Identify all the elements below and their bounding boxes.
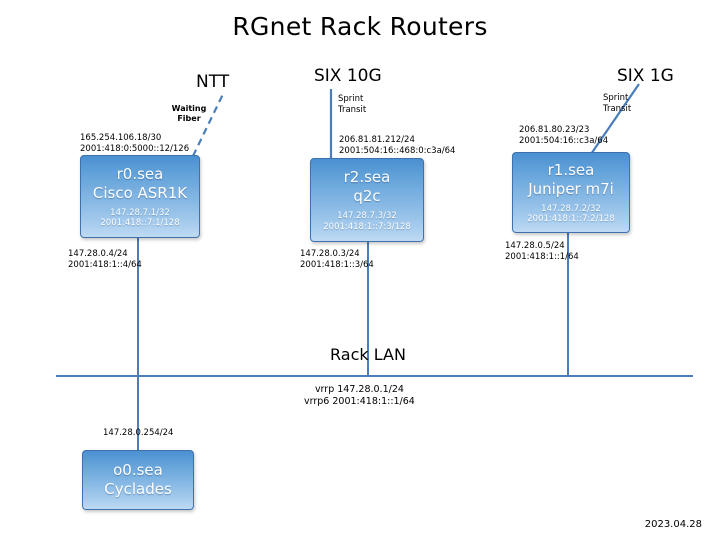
address-r1-lan: 147.28.0.5/24 2001:418:1::1/64: [505, 241, 579, 262]
note-waiting-fiber: Waiting Fiber: [160, 104, 218, 123]
link-r0-ntt: [193, 92, 224, 156]
node-r2-name: r2.sea: [344, 168, 391, 187]
note-sprint-transit-six10g: Sprint Transit: [338, 94, 366, 115]
address-o0-lan: 147.28.0.254/24: [103, 428, 173, 439]
note-sprint-transit-six1g: Sprint Transit: [603, 93, 631, 114]
rack-lan-title: Rack LAN: [330, 345, 406, 364]
rack-lan-bus: [56, 375, 693, 377]
node-r0-model: Cisco ASR1K: [93, 184, 187, 203]
node-r2[interactable]: r2.sea q2c 147.28.7.3/32 2001:418:1::7:3…: [310, 158, 424, 242]
provider-label-six10g: SIX 10G: [314, 66, 382, 86]
link-o0-lan: [137, 375, 139, 450]
node-r1-addresses: 147.28.7.2/32 2001:418:1::7:2/128: [527, 204, 615, 225]
node-o0[interactable]: o0.sea Cyclades: [82, 450, 194, 510]
address-r2-lan: 147.28.0.3/24 2001:418:1::3/64: [300, 249, 374, 270]
node-r1-model: Juniper m7i: [528, 180, 614, 199]
page-title: RGnet Rack Routers: [0, 12, 720, 41]
datestamp: 2023.04.28: [645, 519, 702, 530]
address-r0-uplink: 165.254.106.18/30 2001:418:0:5000::12/12…: [80, 133, 189, 154]
node-r2-addresses: 147.28.7.3/32 2001:418:1::7:3/128: [323, 211, 411, 232]
node-o0-model: Cyclades: [104, 480, 172, 499]
node-r1-name: r1.sea: [548, 161, 595, 180]
node-r2-model: q2c: [353, 187, 380, 206]
address-r0-lan: 147.28.0.4/24 2001:418:1::4/64: [68, 249, 142, 270]
provider-label-six1g: SIX 1G: [617, 66, 674, 86]
diagram-canvas: RGnet Rack Routers NTT SIX 10G SIX 1G Wa…: [0, 0, 720, 540]
address-r2-uplink: 206.81.81.212/24 2001:504:16::468:0:c3a/…: [339, 135, 455, 156]
node-r0-addresses: 147.28.7.1/32 2001:418::7:1/128: [100, 208, 179, 229]
node-r1[interactable]: r1.sea Juniper m7i 147.28.7.2/32 2001:41…: [512, 152, 630, 233]
node-r0[interactable]: r0.sea Cisco ASR1K 147.28.7.1/32 2001:41…: [80, 155, 200, 238]
node-o0-name: o0.sea: [113, 461, 163, 480]
address-r1-uplink: 206.81.80.23/23 2001:504:16::c3a/64: [519, 125, 608, 146]
node-r0-name: r0.sea: [117, 165, 164, 184]
rack-lan-vrrp: vrrp 147.28.0.1/24 vrrp6 2001:418:1::1/6…: [304, 384, 415, 408]
provider-label-ntt: NTT: [196, 72, 229, 92]
